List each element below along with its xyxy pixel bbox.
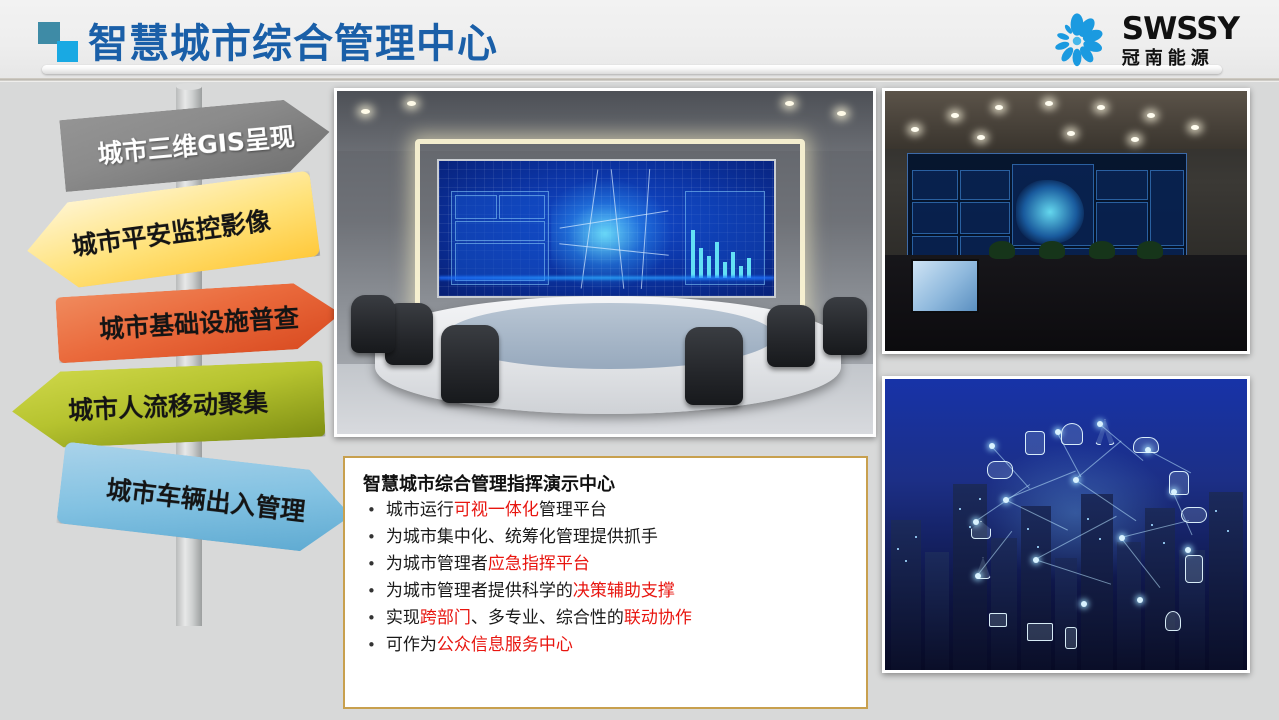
textbox-bullet-text: 为城市集中化、统筹化管理提供抓手 (386, 529, 658, 546)
textbox-bullet-item: •城市运行可视一体化管理平台 (361, 502, 850, 519)
signpost-label-infrastructure: 城市基础设施普查 (56, 296, 342, 349)
cloud-icon (1181, 507, 1207, 523)
bullet-marker-icon: • (367, 556, 376, 573)
brand-cn-name: 冠南能源 (1122, 50, 1239, 68)
header-square-logo (38, 22, 78, 62)
signpost-sign-vehicle[interactable]: 城市车辆出入管理 (56, 441, 355, 556)
textbox-bullet-text: 实现跨部门、多专业、综合性的联动协作 (386, 610, 692, 627)
car-icon (1133, 437, 1159, 453)
textbox-bullet-item: •实现跨部门、多专业、综合性的联动协作 (361, 610, 850, 627)
photo-smart-city (882, 376, 1250, 673)
factory-icon (1061, 423, 1083, 445)
textbox-bullet-item: •为城市管理者提供科学的决策辅助支撑 (361, 583, 850, 600)
signpost-graphic: 城市三维GIS呈现 城市平安监控影像 城市基础设施普查 城市人流移动聚集 城市车… (0, 81, 340, 720)
signal-icon (989, 613, 1007, 627)
satellite-icon (987, 461, 1013, 479)
monitor-room-desk-monitor (911, 259, 979, 313)
brand-logo: SWSSY 冠南能源 (1046, 8, 1239, 74)
signpost-label-crowd-flow: 城市人流移动聚集 (11, 380, 324, 429)
building-icon (1025, 431, 1045, 455)
bulb-icon (1165, 611, 1181, 631)
textbox-bullet-text: 城市运行可视一体化管理平台 (386, 502, 607, 519)
textbox-bullet-text: 为城市管理者应急指挥平台 (386, 556, 590, 573)
textbox-title: 智慧城市综合管理指挥演示中心 (363, 470, 850, 496)
brand-en-name: SWSSY (1122, 14, 1239, 45)
signpost-pole-cap (176, 83, 202, 90)
bullet-marker-icon: • (367, 529, 376, 546)
bullet-marker-icon: • (367, 502, 376, 519)
brand-text: SWSSY 冠南能源 (1122, 14, 1239, 68)
signpost-label-safety: 城市平安监控影像 (25, 195, 317, 269)
phone-icon (1065, 627, 1077, 649)
signpost-label-vehicle: 城市车辆出入管理 (59, 464, 353, 533)
signpost-label-gis: 城市三维GIS呈现 (61, 114, 331, 174)
slide-root: 智慧城市综合管理中心 (0, 0, 1279, 720)
bullet-marker-icon: • (367, 583, 376, 600)
textbox-bullet-item: •可作为公众信息服务中心 (361, 637, 850, 654)
laptop-icon (1027, 623, 1053, 641)
slide-header: 智慧城市综合管理中心 (0, 0, 1279, 81)
bullet-marker-icon: • (367, 610, 376, 627)
textbox-bullet-item: •为城市管理者应急指挥平台 (361, 556, 850, 573)
bullet-marker-icon: • (367, 637, 376, 654)
textbox-bullet-text: 可作为公众信息服务中心 (386, 637, 573, 654)
water-drop-flower-icon (1046, 10, 1108, 72)
description-textbox: 智慧城市综合管理指挥演示中心 •城市运行可视一体化管理平台•为城市集中化、统筹化… (343, 456, 868, 709)
textbox-bullet-text: 为城市管理者提供科学的决策辅助支撑 (386, 583, 675, 600)
textbox-bullet-list: •城市运行可视一体化管理平台•为城市集中化、统筹化管理提供抓手•为城市管理者应急… (361, 502, 850, 654)
signpost-sign-infrastructure[interactable]: 城市基础设施普查 (55, 281, 342, 364)
photo-monitor-room (882, 88, 1250, 354)
textbox-bullet-item: •为城市集中化、统筹化管理提供抓手 (361, 529, 850, 546)
train-icon (1169, 471, 1189, 495)
server-icon (1185, 555, 1203, 583)
control-room-led-wall (437, 159, 776, 298)
photo-control-room (334, 88, 876, 437)
page-title: 智慧城市综合管理中心 (88, 11, 498, 69)
square-cyan-icon (57, 41, 78, 62)
signpost-sign-crowd-flow[interactable]: 城市人流移动聚集 (11, 361, 326, 450)
